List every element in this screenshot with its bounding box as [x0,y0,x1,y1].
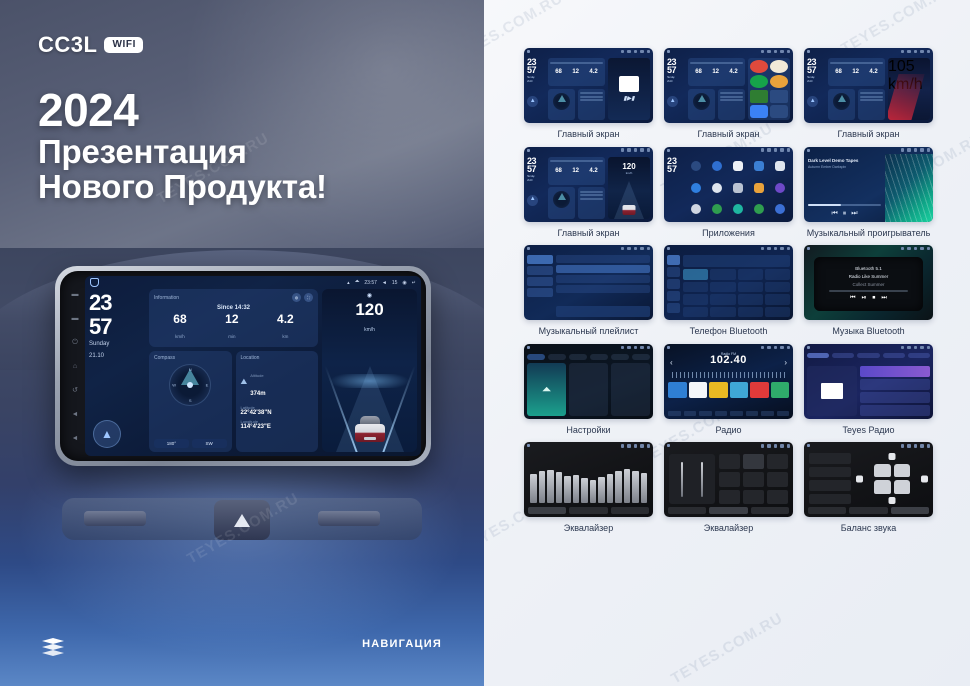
back-icon [647,444,651,448]
balance-right-button[interactable] [921,475,928,482]
trip-value: 12 [225,313,238,325]
location-widget [578,89,605,120]
app-icon [733,204,743,214]
gallery-item[interactable]: 2357Sunday21.10▲ 68124.2 105 km/h [804,48,933,140]
clock-hours: 23 [89,293,145,313]
thumbnail-caption: Радио [664,425,793,436]
volume-icon [774,50,778,54]
bt-badge: Bluetooth 5.1 [855,266,882,271]
clock-widget: 2357Sunday21.10▲ [667,58,685,120]
track-artist: Autumn Ember Darkspin [808,165,881,169]
volume-icon [634,247,638,251]
status-bar-right: ▴ ⏶ 23:57 ◄ 15 ◉ ↵ [347,279,416,286]
location-widget [718,89,745,120]
app-icon [750,90,768,103]
volume-icon [634,148,638,152]
clock-widget: 2357 [667,157,683,219]
speed-limit-icon: ◉ [367,292,372,299]
wifi-icon [901,148,905,152]
gallery-item[interactable]: 2357Sunday21.10▲ 68124.2 ▮▶▮ Главный экр [524,48,653,140]
car-plate [364,437,376,440]
compass-n: N [189,367,192,372]
location-widget [578,187,605,218]
gear-icon [780,50,784,54]
wifi-icon [761,444,765,448]
equalizer-tabs[interactable] [808,507,929,514]
hazard-button[interactable] [214,500,270,540]
equalizer-sliders[interactable] [530,456,647,503]
equalizer-tabs[interactable] [668,507,789,514]
wifi-icon [761,50,765,54]
app-shortcuts-widget [748,58,790,120]
key-2 [710,269,735,280]
compass-widget [828,89,855,120]
back-icon [787,444,791,448]
station-list[interactable] [860,366,930,416]
clock-icon [767,346,771,350]
clock-widget: 2357Sunday21.10▲ [527,157,545,219]
latitude-row: Latitude 22°42'38"N [241,405,314,416]
thumbnail-home-apps[interactable]: 2357Sunday21.10▲ 68124.2 [664,48,793,123]
preset [743,472,764,487]
next-station-icon[interactable]: › [784,358,787,367]
gallery-item[interactable]: Телефон Bluetooth [664,245,793,337]
app-icon [750,105,768,118]
progress-bar[interactable] [829,290,907,292]
balance-presets[interactable] [809,453,851,504]
preset-2 [689,382,708,398]
trip-unit: min [228,334,235,339]
volume-icon [914,148,918,152]
tuning-scale[interactable] [672,372,785,378]
wifi-icon [621,148,625,152]
key-blank [765,307,790,318]
app-icon [750,60,768,73]
back-icon[interactable]: ↵ [412,280,416,286]
gallery-row: 2357Sunday21.10▲ 68124.2 ▮▶▮ Главный экр [524,48,934,140]
compass-s: S [189,398,192,403]
app-icon [754,161,764,171]
wifi-icon [621,50,625,54]
app-icon [691,161,701,171]
back-icon [927,444,931,448]
key-9 [738,294,763,305]
now-playing-bar[interactable] [556,306,650,317]
side-button-mute-icon[interactable]: ▬ [72,291,79,298]
app-icon [712,204,722,214]
home-icon [527,50,530,53]
settings-cards[interactable]: ⏶ [527,363,650,416]
key-star-action [765,269,790,280]
navigation-arrow-icon[interactable]: ▲ [93,420,121,448]
balance-up-button[interactable] [889,453,896,460]
nav-section-label: НАВИГАЦИЯ [362,638,442,650]
back-icon [787,148,791,152]
expand-icon[interactable]: ⛶ [304,293,313,302]
speed-value: 120 [608,162,650,171]
tab-presets [849,507,887,514]
thumbnail-settings[interactable]: ⏶ [524,344,653,419]
back-icon [647,148,651,152]
prev-icon: ⏮ [850,295,855,302]
key-hash [738,307,763,318]
volume-level: 15 [392,280,398,286]
track-title: Radio Like Summer [849,274,889,279]
side-button-mic-icon[interactable]: ▬ [72,315,79,322]
app-icon [754,204,764,214]
thumbnail-caption: Главный экран [804,129,933,140]
information-card: 68124.2 [688,58,745,86]
refresh-icon[interactable]: ◍ [292,293,301,302]
volume-icon [914,346,918,350]
thumbnail-bt-phone[interactable] [664,245,793,320]
gallery-row: Музыкальный плейлист [524,245,934,337]
gallery-item[interactable]: 2357 Приложения [664,147,793,239]
app-icon [733,183,743,193]
compass-title: Compass [154,355,175,361]
navigation-arrow-icon[interactable]: ▲ [667,96,678,107]
teyes-tabs[interactable] [807,353,930,358]
phone-sidebar[interactable] [667,255,680,317]
side-button-home-icon[interactable]: ⌂ [73,363,77,370]
app-icon [750,75,768,88]
gallery-item[interactable]: Dark Level Demo Tapes Autumn Ember Darks… [804,147,933,239]
list-item [860,366,930,377]
latitude-value: 22°42'38"N [241,410,314,416]
layers-icon [42,638,64,656]
thumbnail-sound-balance[interactable] [804,442,933,517]
compass-widget [548,89,575,120]
side-button-volume-down-icon[interactable]: ◄ [72,411,79,418]
thumbnail-caption: Главный экран [524,129,653,140]
level-sliders[interactable] [669,454,715,504]
tab-balance [891,507,929,514]
compass-w: W [172,383,176,388]
app-icon [770,105,788,118]
clock-icon [627,247,631,251]
gear-icon [920,148,924,152]
next-icon: ⏭ [851,210,857,218]
location-widget: Location ⛰ Altitude 374m [236,351,319,452]
thumbnail-radio[interactable]: Radio FM 102.40 ‹ › [664,344,793,419]
album-art-visual [885,154,933,222]
thumbnail-teyes-radio[interactable] [804,344,933,419]
gear-icon [780,148,784,152]
tab-wifi [527,354,545,360]
gear-icon [780,444,784,448]
wifi-icon [761,346,765,350]
balance-left-button[interactable] [856,475,863,482]
air-vent-left [84,511,146,526]
clock-icon [907,148,911,152]
navigation-arrow-icon[interactable]: ▲ [527,96,538,107]
volume-icon [634,346,638,350]
clock-widget: 2357Sunday21.10▲ [807,58,825,120]
gear-icon [640,50,644,54]
home-icon[interactable] [90,278,99,287]
tab-about [632,354,650,360]
compass-widget: Compass N E S W [149,351,232,452]
gallery-item[interactable]: Эквалайзер [524,442,653,534]
equalizer-tabs[interactable] [528,507,649,514]
gear-icon [920,444,924,448]
progress-bar[interactable] [808,204,881,206]
thumbnail-caption: Эквалайзер [524,523,653,534]
left-hero-panel: CC3L WIFI 2024 Презентация Нового Продук… [0,0,484,686]
station-presets[interactable] [668,382,789,398]
track-artist: Collect Summer [852,282,884,287]
clock-icon [907,50,911,54]
preset-grid[interactable] [719,454,788,504]
preset-5 [750,382,769,398]
wifi-icon [901,247,905,251]
logo-text: CC3L [38,34,97,56]
seat-map [874,464,910,494]
home-icon [807,50,810,53]
head-unit-bezel: ▬ ▬ ⏻ ⌂ ↺ ◄ ◄ ▴ ⏶ [55,266,431,466]
app-icon [775,183,785,193]
clock-icon [627,148,631,152]
thumbnail-equalizer[interactable] [524,442,653,517]
card-wifi: ⏶ [527,363,566,416]
volume-icon: ◄ [382,280,387,286]
prev-icon: ⏮ [831,210,837,218]
right-gallery-panel: TEYES.COM.RU TEYES.COM.RU TEYES.COM.RU T… [484,0,970,686]
compass-direction: SW [192,439,227,448]
gallery-item[interactable]: ⏶ Настройки [524,344,653,436]
compass-e: E [206,383,209,388]
thumbnail-caption: Телефон Bluetooth [664,326,793,337]
playback-controls[interactable]: ⏮⏸⏭ [808,210,881,218]
navigation-arrow-icon[interactable]: ▲ [807,96,818,107]
trip-stat: 12min [225,313,238,343]
key-backspace [765,282,790,293]
gear-icon [920,346,924,350]
thumbnail-music-player[interactable]: Dark Level Demo Tapes Autumn Ember Darks… [804,147,933,222]
gallery-item[interactable]: Музыкальный плейлист [524,245,653,337]
trip-unit: km [282,334,288,339]
thumbnail-playlist[interactable] [524,245,653,320]
gear-icon[interactable]: ◉ [402,280,406,286]
list-item [860,392,930,403]
thumbnail-caption: Эквалайзер [664,523,793,534]
wifi-icon [901,50,905,54]
gallery-item[interactable]: Radio FM 102.40 ‹ › Радио [664,344,793,436]
clock-day: Sunday [89,340,145,348]
volume-icon [774,247,778,251]
headline-line-1: Презентация [38,135,327,170]
app-icon [775,204,785,214]
wifi-icon [761,247,765,251]
gallery-item[interactable]: Эквалайзер [664,442,793,534]
thumbnail-caption: Музыкальный плейлист [524,326,653,337]
thumbnail-caption: Музыкальный проигрыватель [804,228,933,239]
tab-apps [590,354,608,360]
wifi-icon [621,346,625,350]
app-icon [770,60,788,73]
car-3d-model [355,416,385,442]
trip-value: 4.2 [277,313,294,325]
thumbnail-caption: Баланс звука [804,523,933,534]
information-actions[interactable]: ◍ ⛶ [292,293,313,302]
thumbnail-home-music[interactable]: 2357Sunday21.10▲ 68124.2 ▮▶▮ [524,48,653,123]
side-button-volume-up-icon[interactable]: ◄ [72,435,79,442]
music-mini-widget: ▮▶▮ [608,58,650,120]
speed-unit: km/h [608,171,650,175]
radio-toolbar[interactable] [668,411,789,416]
settings-tabs[interactable] [527,354,650,360]
dialpad[interactable] [683,269,790,317]
altitude-label: Altitude [250,373,263,378]
headline-line-2: Нового Продукта! [38,170,327,205]
clock-icon [767,148,771,152]
key-6 [738,282,763,293]
prev-station-icon[interactable]: ‹ [670,358,673,367]
home-icon [807,247,810,250]
balance-down-button[interactable] [889,497,896,504]
card-other [611,363,650,416]
preset-6 [771,382,790,398]
app-grid[interactable] [686,157,790,219]
home-icon [807,346,810,349]
volume-icon [634,444,638,448]
thumbnail-home-nav-red[interactable]: 2357Sunday21.10▲ 68124.2 105 km/h [804,48,933,123]
back-icon [927,346,931,350]
tab-eq [668,507,706,514]
compass-widget [688,89,715,120]
thumbnail-caption: Главный экран [524,228,653,239]
info-column: Information ◍ ⛶ Since 14:32 68km/h [149,289,318,452]
back-icon [647,247,651,251]
volume-icon [774,148,778,152]
gallery-item[interactable]: Баланс звука [804,442,933,534]
side-button-back-icon[interactable]: ↺ [72,387,78,394]
pause-icon: ⏸ [843,210,847,218]
gear-icon [780,247,784,251]
key-3 [738,269,763,280]
navigation-arrow-icon[interactable]: ▲ [527,195,538,206]
gallery-row: 2357Sunday21.10▲ 68124.2 120 km/h [524,147,934,239]
clock-widget: 2357Sunday21.10▲ [527,58,545,120]
preset-1 [668,382,687,398]
tab-sound [611,507,649,514]
head-unit-side-buttons[interactable]: ▬ ▬ ⏻ ⌂ ↺ ◄ ◄ [65,276,85,456]
card-bluetooth [569,363,608,416]
key-8 [710,294,735,305]
trip-stat: 68km/h [173,313,186,343]
compass-dial: N E S W [169,364,211,406]
gallery-item[interactable]: Teyes Радио [804,344,933,436]
home-icon [527,149,530,152]
key-star [683,307,708,318]
preset [719,454,740,469]
compass-widget [548,187,575,218]
information-card: 68124.2 [548,58,605,86]
thumbnail-caption: Главный экран [664,129,793,140]
navigation-widget[interactable]: ◉ 120 km/h [322,289,417,452]
playback-controls[interactable]: ⏮⏯⏹⏭ [850,295,887,302]
thumbnail-caption: Музыка Bluetooth [804,326,933,337]
balance-pad[interactable] [856,453,928,504]
clock-icon [907,247,911,251]
home-icon [667,444,670,447]
thumbnail-home-nav[interactable]: 2357Sunday21.10▲ 68124.2 120 km/h [524,147,653,222]
preset [767,454,788,469]
thumbnail-caption: Teyes Радио [804,425,933,436]
thumbnail-bt-music[interactable]: Bluetooth 5.1 Radio Like Summer Collect … [804,245,933,320]
home-icon [667,247,670,250]
gallery-item[interactable]: 2357Sunday21.10▲ 68124.2 120 km/h [524,147,653,239]
preset-4 [730,382,749,398]
home-icon [527,346,530,349]
back-icon [927,247,931,251]
list-item [860,379,930,390]
gear-icon [780,346,784,350]
tab-eq [528,507,566,514]
watermark: TEYES.COM.RU [668,610,786,686]
speed-value: 120 [322,301,417,318]
app-icon [754,183,764,193]
gallery-item[interactable]: 2357Sunday21.10▲ 68124.2 [664,48,793,140]
longitude-row: Longitude 114°4'23"E [241,419,314,430]
gear-icon [920,50,924,54]
air-vent-right [318,511,380,526]
gallery-row: Эквалайзер Эквалайзер [524,442,934,534]
key-1 [683,269,708,280]
wifi-icon: ⏶ [355,279,360,286]
compass-needle [187,382,193,388]
playlist-sidebar[interactable] [527,255,553,317]
tab-sound [751,507,789,514]
back-icon [647,50,651,54]
gallery-item[interactable]: Bluetooth 5.1 Radio Like Summer Collect … [804,245,933,337]
preset [743,490,764,505]
longitude-value: 114°4'23"E [241,424,314,430]
next-icon: ⏭ [881,295,886,302]
clock-icon [767,247,771,251]
navigation-widget: 105 km/h [888,58,930,120]
information-card: Information ◍ ⛶ Since 14:32 68km/h [149,289,318,347]
gear-icon [640,247,644,251]
app-icon [712,161,722,171]
speed-unit: km/h [888,76,930,94]
wifi-icon [901,346,905,350]
back-icon [787,50,791,54]
speed-unit: km/h [364,327,375,333]
tab-display [569,354,587,360]
gear-icon [640,444,644,448]
status-bar: ▴ ⏶ 23:57 ◄ 15 ◉ ↵ [85,276,421,289]
head-unit-screen[interactable]: ▴ ⏶ 23:57 ◄ 15 ◉ ↵ 23 [85,276,421,456]
station-artwork [807,366,857,416]
back-icon [927,148,931,152]
gear-icon [920,247,924,251]
tab-eq [808,507,846,514]
track-title: Dark Level Demo Tapes [808,158,881,163]
side-button-power-icon[interactable]: ⏻ [72,339,78,346]
app-icon [712,183,722,193]
tab-system [611,354,629,360]
playlist-rows[interactable] [556,255,650,317]
thumbnail-apps[interactable]: 2357 [664,147,793,222]
presentation-slide: CC3L WIFI 2024 Презентация Нового Продук… [0,0,970,686]
preset [719,472,740,487]
information-header: Information ◍ ⛶ [154,293,313,302]
tab-sound [548,354,566,360]
gear-icon [640,148,644,152]
clock-icon [627,444,631,448]
thumbnail-equalizer-presets[interactable] [664,442,793,517]
